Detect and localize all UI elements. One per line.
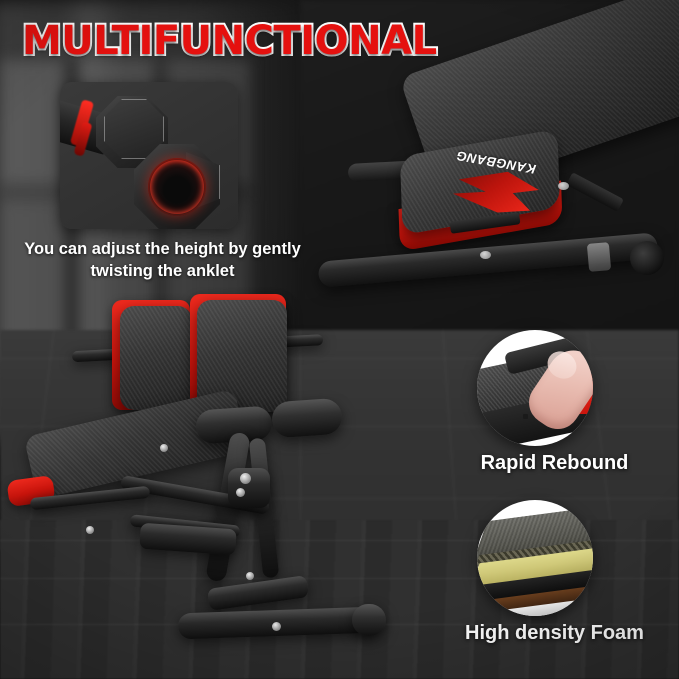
anklet-caption-line-2: twisting the anklet [10,260,315,282]
frame-bolt [86,526,94,534]
foot-bracket-right [207,575,309,611]
feature-label-high-density-foam: High density Foam [430,622,679,645]
leg-roller-rear [271,398,343,439]
hinge-bolt [236,488,245,497]
high-density-foam-photo [477,500,593,616]
bench-flat-view: KANGBANG [330,35,679,310]
bench-strut-right [566,172,624,212]
nut-bore-ring [150,160,204,214]
anklet-detail-panel [60,82,238,229]
frame-bolt [246,572,254,580]
pad-grommet [523,414,528,419]
adjustment-pin [240,473,251,484]
base-bar-end-cap [352,604,386,636]
backrest-pad-left [120,306,192,410]
bench-bolt [480,251,491,259]
anklet-caption-line-1: You can adjust the height by gently [10,238,315,260]
product-marketing-image: MULTIFUNCTIONAL You can adjust the heigh… [0,0,679,679]
bench-bar-end-cap [629,240,666,277]
rapid-rebound-photo [477,330,593,446]
frame-bolt [160,444,168,452]
bench-bolt [558,182,569,190]
bench-upright-view [0,292,420,679]
frame-bolt [272,622,281,631]
anklet-caption: You can adjust the height by gently twis… [10,238,315,283]
bench-bar-sleeve [587,242,611,272]
foot-bracket-left [139,523,237,556]
feature-label-rapid-rebound: Rapid Rebound [430,452,679,475]
